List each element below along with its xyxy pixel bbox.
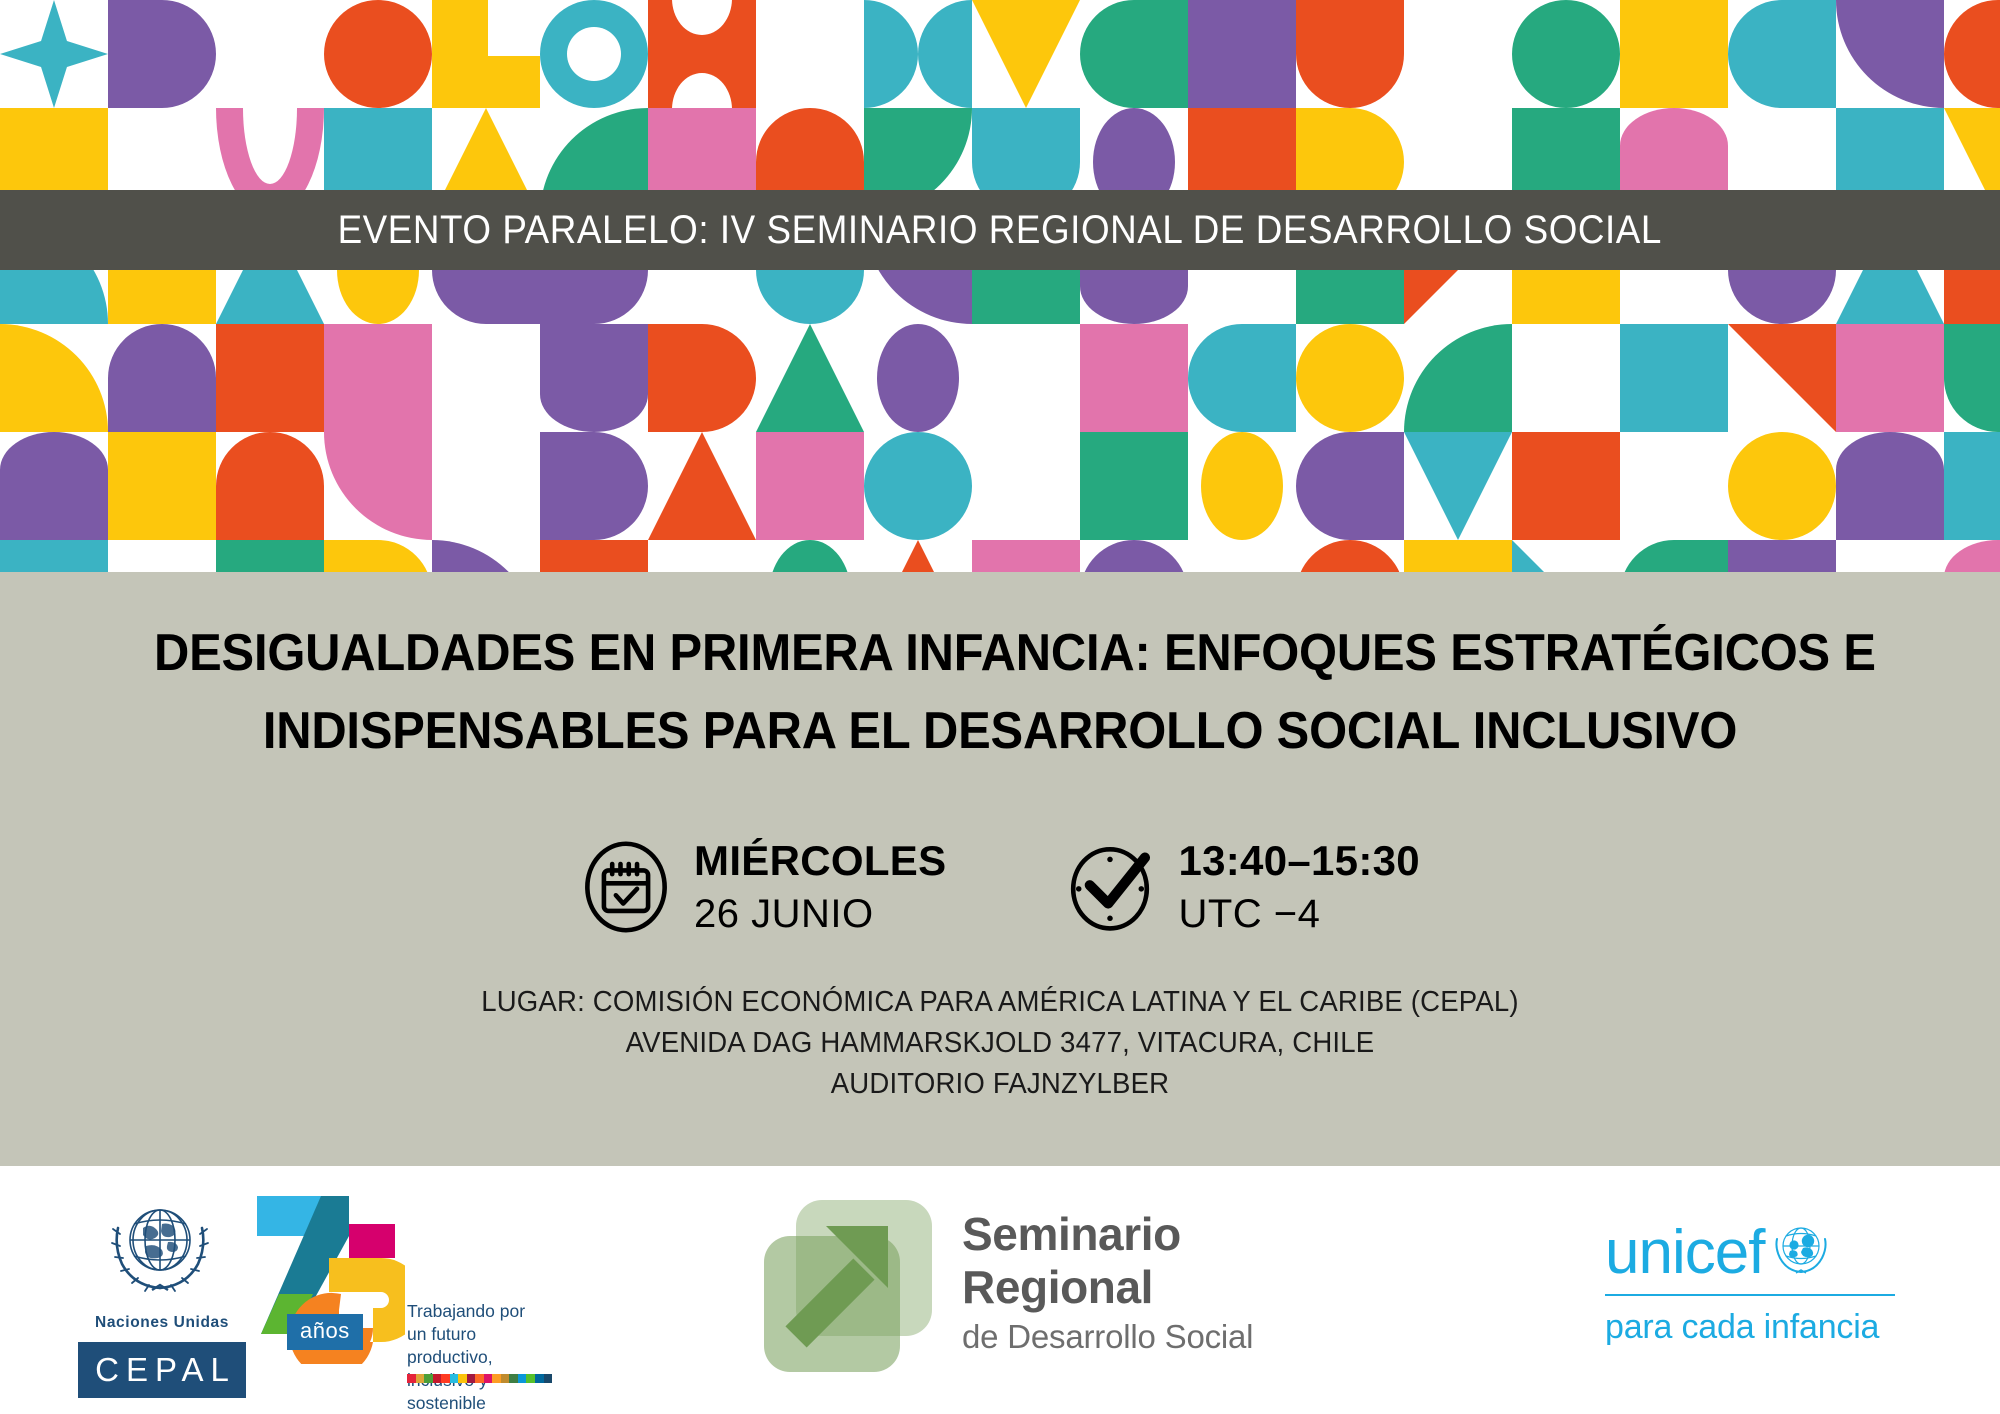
pattern-shape [1944, 432, 2000, 540]
pattern-shape [324, 0, 432, 108]
pattern-shape [1512, 540, 1620, 572]
sdg-color-bar [407, 1374, 552, 1383]
pattern-cell [648, 540, 756, 572]
pattern-cell [1836, 432, 1944, 540]
pattern-shape [324, 432, 432, 540]
pattern-shape [1188, 324, 1296, 432]
pattern-cell [216, 540, 324, 572]
pattern-cell [216, 432, 324, 540]
pattern-shape [648, 324, 756, 432]
pattern-shape [0, 0, 108, 108]
pattern-cell [1728, 540, 1836, 572]
pattern-shape [540, 432, 648, 540]
pattern-cell [432, 540, 540, 572]
event-time: 13:40–15:30 UTC −4 [1064, 840, 1420, 934]
pattern-cell [864, 0, 972, 108]
seminario-line-3: de Desarrollo Social [962, 1314, 1253, 1360]
pattern-cell [1188, 432, 1296, 540]
pattern-shape [1728, 324, 1836, 432]
pattern-cell [540, 0, 648, 108]
pattern-shape [1620, 0, 1728, 108]
pattern-shape [972, 0, 1080, 108]
pattern-shape [648, 0, 756, 108]
pattern-cell [1296, 324, 1404, 432]
sdg-color-swatch [501, 1374, 510, 1383]
unicef-divider [1605, 1294, 1895, 1296]
pattern-cell [1404, 432, 1512, 540]
event-ribbon: EVENTO PARALELO: IV SEMINARIO REGIONAL D… [0, 190, 2000, 270]
pattern-cell [648, 432, 756, 540]
event-ribbon-label: EVENTO PARALELO: IV SEMINARIO REGIONAL D… [338, 208, 1662, 253]
seminario-regional-text: Seminario Regional de Desarrollo Social [962, 1208, 1253, 1360]
pattern-cell [0, 324, 108, 432]
pattern-cell [0, 0, 108, 108]
pattern-shape [540, 0, 648, 108]
pattern-cell [1620, 324, 1728, 432]
pattern-cell [1944, 540, 2000, 572]
anniversary-badge-label: años [300, 1318, 350, 1343]
sdg-color-swatch [458, 1374, 467, 1383]
event-date-text: MIÉRCOLES 26 JUNIO [694, 840, 946, 934]
pattern-cell [1728, 324, 1836, 432]
pattern-cell [108, 0, 216, 108]
pattern-cell [648, 0, 756, 108]
united-nations-emblem-icon [96, 1184, 224, 1312]
pattern-shape [756, 324, 864, 432]
anniversary-slogan-line-2: un futuro productivo, [407, 1323, 555, 1369]
sdg-color-swatch [492, 1374, 501, 1383]
pattern-cell [1620, 0, 1728, 108]
pattern-shape [1728, 0, 1836, 108]
sdg-color-swatch [467, 1374, 476, 1383]
pattern-cell [1296, 540, 1404, 572]
pattern-cell [108, 540, 216, 572]
pattern-shape [1944, 324, 2000, 432]
pattern-shape [1404, 540, 1512, 572]
pattern-shape [1944, 0, 2000, 108]
unicef-wordmark-row: unicef [1605, 1214, 1905, 1284]
pattern-shape [1728, 432, 1836, 540]
pattern-cell [648, 324, 756, 432]
footer-logos: Naciones Unidas CEPAL [0, 1166, 2000, 1414]
sdg-color-swatch [416, 1374, 425, 1383]
event-time-text: 13:40–15:30 UTC −4 [1178, 840, 1420, 934]
pattern-cell [1296, 432, 1404, 540]
pattern-cell [540, 540, 648, 572]
anniversary-badge: años [287, 1314, 363, 1350]
pattern-cell [1944, 324, 2000, 432]
pattern-grid [0, 0, 2000, 572]
pattern-shape [769, 540, 851, 572]
pattern-cell [216, 324, 324, 432]
pattern-cell [864, 432, 972, 540]
pattern-shape [324, 324, 432, 432]
pattern-cell [0, 432, 108, 540]
sdg-color-swatch [544, 1374, 553, 1383]
pattern-shape [1512, 0, 1620, 108]
pattern-cell [1944, 0, 2000, 108]
pattern-cell [1512, 540, 1620, 572]
pattern-cell [540, 324, 648, 432]
sdg-color-swatch [535, 1374, 544, 1383]
pattern-cell [1836, 0, 1944, 108]
pattern-shape [756, 432, 864, 540]
pattern-cell [1836, 540, 1944, 572]
pattern-cell [756, 432, 864, 540]
pattern-shape [0, 324, 108, 432]
pattern-shape [1080, 0, 1188, 108]
pattern-cell [216, 0, 324, 108]
pattern-cell [540, 432, 648, 540]
sdg-color-swatch [475, 1374, 484, 1383]
anniversary-75-logo: años Trabajando por un futuro productivo… [255, 1194, 545, 1379]
pattern-cell [1080, 432, 1188, 540]
pattern-cell [1512, 0, 1620, 108]
pattern-cell [1512, 432, 1620, 540]
pattern-shape [1080, 432, 1188, 540]
sdg-color-swatch [407, 1374, 416, 1383]
pattern-shape [972, 540, 1080, 572]
pattern-cell [864, 324, 972, 432]
pattern-shape [540, 324, 648, 432]
pattern-cell [1080, 540, 1188, 572]
pattern-shape [432, 540, 540, 572]
pattern-shape [1080, 540, 1188, 572]
sdg-color-swatch [509, 1374, 518, 1383]
pattern-shape [1620, 324, 1728, 432]
pattern-shape [216, 432, 324, 540]
sdg-color-swatch [484, 1374, 493, 1383]
venue-line-1: LUGAR: COMISIÓN ECONÓMICA PARA AMÉRICA L… [50, 982, 1950, 1023]
sdg-color-swatch [441, 1374, 450, 1383]
pattern-shape [1836, 0, 1944, 108]
pattern-cell [1296, 0, 1404, 108]
pattern-shape [864, 540, 972, 572]
pattern-shape [1296, 0, 1404, 108]
pattern-shape [432, 0, 540, 108]
cepal-wordmark: CEPAL [88, 1351, 236, 1389]
pattern-cell [324, 432, 432, 540]
pattern-cell [432, 324, 540, 432]
un-caption: Naciones Unidas [72, 1314, 252, 1332]
pattern-cell [324, 0, 432, 108]
event-date-label: 26 JUNIO [694, 894, 946, 934]
pattern-shape [216, 540, 324, 572]
pattern-cell [756, 540, 864, 572]
pattern-shape [108, 324, 216, 432]
pattern-shape [108, 432, 216, 540]
title-line-2: INDISPENSABLES PARA EL DESARROLLO SOCIAL… [154, 692, 1846, 770]
pattern-shape [1296, 432, 1404, 540]
pattern-shape [216, 324, 324, 432]
unicef-wordmark: unicef [1605, 1222, 1764, 1284]
pattern-shape [1404, 432, 1512, 540]
page-title: DESIGUALDADES EN PRIMERA INFANCIA: ENFOQ… [100, 614, 1900, 770]
title-line-1: DESIGUALDADES EN PRIMERA INFANCIA: ENFOQ… [154, 614, 1846, 692]
pattern-cell [1404, 540, 1512, 572]
pattern-cell [324, 324, 432, 432]
pattern-shape [648, 432, 756, 540]
seminario-line-1: Seminario [962, 1208, 1253, 1261]
pattern-cell [324, 540, 432, 572]
pattern-cell [1728, 432, 1836, 540]
pattern-shape [0, 540, 108, 572]
anniversary-slogan: Trabajando por un futuro productivo, inc… [407, 1300, 555, 1414]
sdg-color-swatch [433, 1374, 442, 1383]
pattern-shape [0, 432, 108, 540]
pattern-cell [1404, 0, 1512, 108]
sdg-color-swatch [518, 1374, 527, 1383]
pattern-cell [108, 324, 216, 432]
pattern-shape [864, 432, 972, 540]
pattern-shape [1836, 432, 1944, 540]
pattern-cell [972, 540, 1080, 572]
anniversary-slogan-line-1: Trabajando por [407, 1300, 555, 1323]
pattern-cell [0, 540, 108, 572]
pattern-cell [1836, 324, 1944, 432]
calendar-check-icon [580, 841, 672, 933]
pattern-cell [432, 432, 540, 540]
pattern-cell [432, 0, 540, 108]
pattern-cell [108, 432, 216, 540]
pattern-cell [1080, 0, 1188, 108]
pattern-cell [1188, 540, 1296, 572]
pattern-shape [1512, 432, 1620, 540]
pattern-cell [1404, 324, 1512, 432]
pattern-shape [324, 540, 432, 572]
unicef-emblem-icon [1770, 1220, 1832, 1282]
pattern-cell [972, 0, 1080, 108]
pattern-shape [1404, 324, 1512, 432]
pattern-cell [972, 432, 1080, 540]
unicef-tagline: para cada infancia [1605, 1308, 1905, 1347]
pattern-cell [1944, 432, 2000, 540]
pattern-cell [864, 540, 972, 572]
decorative-pattern-band [0, 0, 2000, 572]
pattern-shape [1296, 324, 1404, 432]
pattern-cell [1620, 540, 1728, 572]
event-date: MIÉRCOLES 26 JUNIO [580, 840, 946, 934]
event-timezone: UTC −4 [1178, 894, 1420, 934]
pattern-shape [1080, 324, 1188, 432]
content-panel: DESIGUALDADES EN PRIMERA INFANCIA: ENFOQ… [0, 572, 2000, 1166]
venue-block: LUGAR: COMISIÓN ECONÓMICA PARA AMÉRICA L… [0, 982, 2000, 1105]
pattern-cell [972, 324, 1080, 432]
venue-line-3: AUDITORIO FAJNZYLBER [50, 1064, 1950, 1105]
pattern-shape [1296, 540, 1404, 572]
arrow-up-right-squares-icon [760, 1196, 936, 1372]
sdg-color-swatch [424, 1374, 433, 1383]
datetime-row: MIÉRCOLES 26 JUNIO 13:40–15:3 [0, 840, 2000, 934]
pattern-cell [1728, 0, 1836, 108]
cepal-wordmark-box: CEPAL [78, 1342, 246, 1398]
pattern-shape [1728, 540, 1836, 572]
pattern-shape [1188, 0, 1296, 108]
event-day-label: MIÉRCOLES [694, 840, 946, 882]
event-time-range: 13:40–15:30 [1178, 840, 1420, 882]
pattern-cell [1512, 324, 1620, 432]
pattern-shape [1201, 432, 1283, 540]
seminario-line-2: Regional [962, 1261, 1253, 1314]
pattern-shape [1944, 540, 2000, 572]
clock-check-icon [1064, 841, 1156, 933]
pattern-shape [540, 540, 648, 572]
pattern-cell [1080, 324, 1188, 432]
pattern-cell [756, 0, 864, 108]
pattern-shape [1620, 540, 1728, 572]
venue-line-2: AVENIDA DAG HAMMARSKJOLD 3477, VITACURA,… [50, 1023, 1950, 1064]
sdg-color-swatch [526, 1374, 535, 1383]
pattern-shape [877, 324, 959, 432]
pattern-shape [864, 0, 972, 108]
pattern-cell [756, 324, 864, 432]
pattern-cell [1620, 432, 1728, 540]
un-cepal-logo: Naciones Unidas CEPAL [72, 1184, 252, 1384]
seminario-regional-logo: Seminario Regional de Desarrollo Social [760, 1184, 1300, 1384]
sdg-color-swatch [450, 1374, 459, 1383]
pattern-cell [1188, 324, 1296, 432]
pattern-shape [1836, 324, 1944, 432]
event-poster: EVENTO PARALELO: IV SEMINARIO REGIONAL D… [0, 0, 2000, 1414]
pattern-shape [108, 0, 216, 108]
pattern-cell [1188, 0, 1296, 108]
unicef-logo: unicef [1605, 1214, 1905, 1354]
